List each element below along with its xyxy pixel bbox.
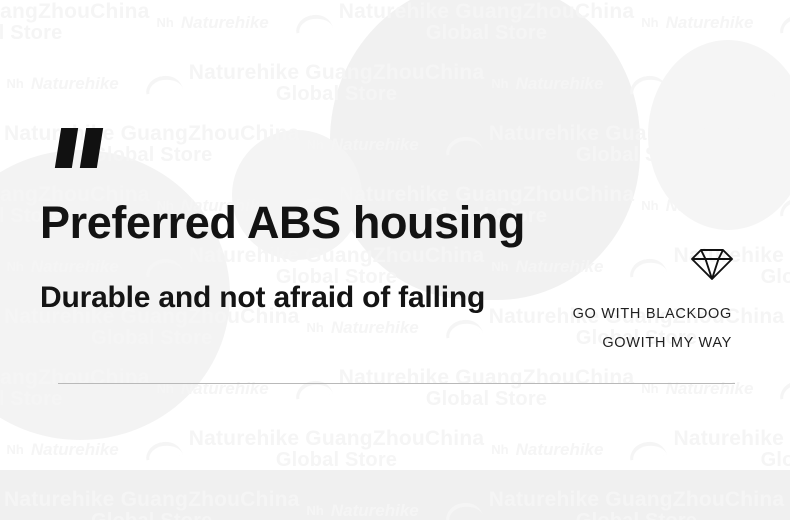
- banner-content: Preferred ABS housing Durable and not af…: [0, 0, 790, 520]
- horizontal-divider: [58, 383, 735, 384]
- product-feature-banner: Naturehike GuangZhouChinaGlobal StoreNhN…: [0, 0, 790, 520]
- tagline-block: GO WITH BLACKDOG GOWITH MY WAY: [573, 300, 732, 358]
- quote-mark-icon: [58, 128, 100, 168]
- tagline-line-1: GO WITH BLACKDOG: [573, 300, 732, 329]
- quote-bar-left: [55, 128, 78, 168]
- quote-bar-right: [80, 128, 103, 168]
- tagline-line-2: GOWITH MY WAY: [573, 329, 732, 358]
- subheadline: Durable and not afraid of falling: [40, 281, 485, 316]
- headline: Preferred ABS housing: [40, 198, 525, 248]
- diamond-icon: [690, 242, 734, 282]
